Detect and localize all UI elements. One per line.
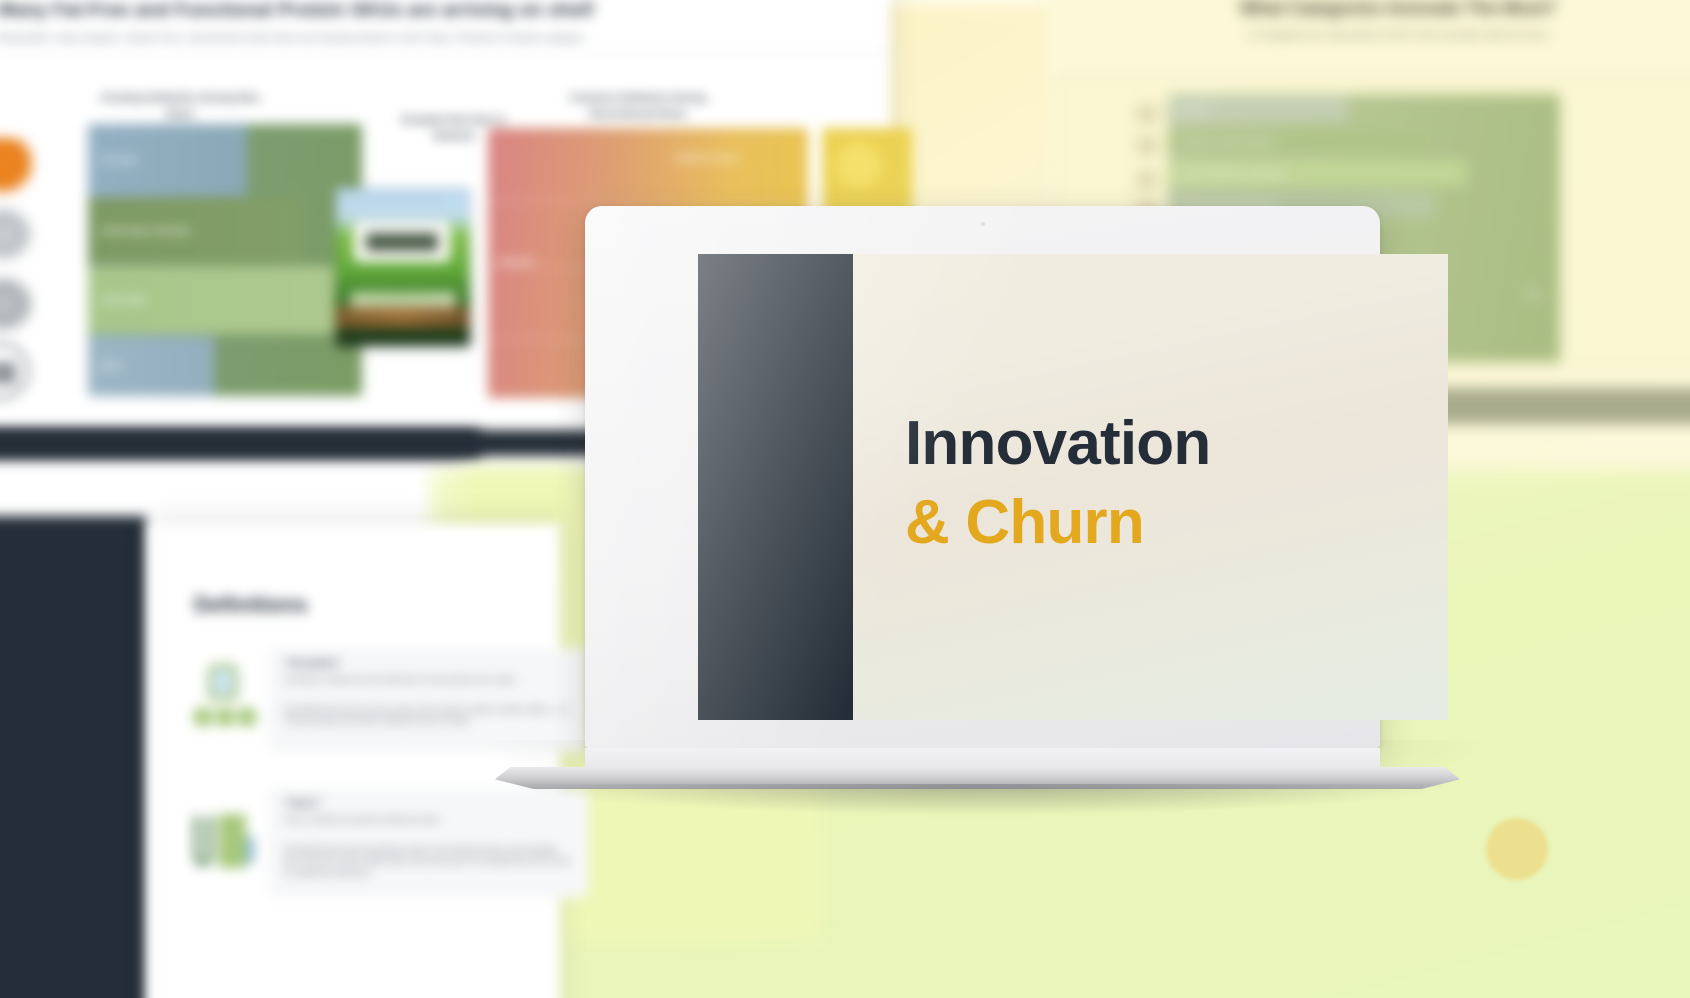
laptop-lid: Innovation & Churn	[585, 206, 1380, 748]
slide-title-line-1: Innovation	[905, 404, 1210, 483]
bar-row: LOW CARB	[88, 266, 335, 334]
scissors-icon	[1130, 100, 1164, 128]
fork-carton-icon	[192, 810, 258, 876]
can-icon	[0, 342, 30, 400]
definition-heading: "Churn"	[284, 798, 321, 809]
column-heading-growing: Growing Attributes Among New Items	[90, 90, 270, 123]
axis-value-label: 60%	[1526, 290, 1542, 299]
noodles-icon	[0, 206, 34, 262]
circle-accent-decor	[1486, 818, 1548, 880]
bar-row: SNACKS	[1168, 96, 1348, 122]
pumpkin-icon	[0, 138, 34, 194]
package-label	[354, 222, 450, 262]
definition-body-1: Churn is defined as products exiting the…	[284, 814, 574, 825]
bar-row: CHIPS, PRETZELS & SNACKS	[1168, 160, 1466, 186]
background-navy-panel: thethewhichenced&weeks.	[0, 516, 146, 998]
backdrop-sage-band	[1430, 388, 1690, 424]
package-art-soil	[336, 306, 470, 328]
divider	[0, 54, 890, 55]
bar-label: FROZEN & DAIRY SNACKS	[1178, 137, 1275, 146]
bar-row: FROZEN & DAIRY SNACKS	[1168, 128, 1427, 154]
snack-package-photo	[336, 188, 470, 346]
slide-title-line-2: & Churn	[905, 483, 1210, 562]
thumbs-up-network-icon	[192, 664, 258, 730]
screenshot-stage: Many Fat-Free and Functional Protein SKU…	[0, 0, 1690, 998]
laptop-screen[interactable]: Innovation & Churn	[698, 254, 1448, 720]
laptop-foot-shadow	[513, 784, 1443, 814]
bar-label: SNACKS	[1178, 105, 1210, 114]
bar-label: FUNCTIONAL PROTEIN	[100, 227, 190, 236]
bar-label: LOW CARB	[100, 296, 144, 305]
bar-label: ANCIENT GRAIN	[674, 154, 738, 163]
bar-row: KETO	[88, 336, 214, 396]
column-heading-discontinued: Common Attributes Among Discontinued Ite…	[538, 90, 738, 123]
slide-title: Definitions	[194, 592, 308, 618]
slide-subtitle: 10 Categories are responsible for 60% of…	[1048, 30, 1690, 41]
slide-body: Innovation & Churn	[853, 254, 1448, 720]
definition-heading: "Innovation"	[284, 658, 341, 669]
navy-panel-text: thethewhichenced&weeks.	[0, 664, 146, 814]
slide-title: What Categories Innovate The Most?	[1048, 0, 1690, 19]
definition-body-2: We identify these items by looking at sa…	[284, 844, 574, 878]
camera-icon	[981, 222, 985, 226]
slide-title-block: Innovation & Churn	[905, 404, 1210, 563]
slide-sidebar	[698, 254, 853, 720]
bar-label: FAT-FREE	[100, 156, 138, 165]
backdrop-dark-strip-2	[0, 430, 480, 458]
laptop-device: Innovation & Churn	[495, 206, 1460, 774]
bar-row: FAT-FREE	[88, 124, 247, 196]
cauliflower-icon	[0, 276, 34, 332]
badge-icon	[446, 194, 462, 210]
slide-subtitle: Meanwhile, many Organic, Gluten-Free, an…	[0, 32, 878, 44]
bar-row: FUNCTIONAL PROTEIN	[88, 198, 302, 264]
bar-label: KETO	[100, 362, 122, 371]
slide-title: Many Fat-Free and Functional Protein SKU…	[0, 0, 828, 22]
bar-label: CHIPS, PRETZELS & SNACKS	[1178, 169, 1286, 178]
growing-attributes-bar-chart: FAT-FREE FUNCTIONAL PROTEIN LOW CARB KET…	[88, 124, 362, 396]
pen-icon	[1130, 132, 1164, 160]
list-icon	[1130, 166, 1164, 194]
presentation-slide[interactable]: Innovation & Churn	[698, 254, 1448, 720]
